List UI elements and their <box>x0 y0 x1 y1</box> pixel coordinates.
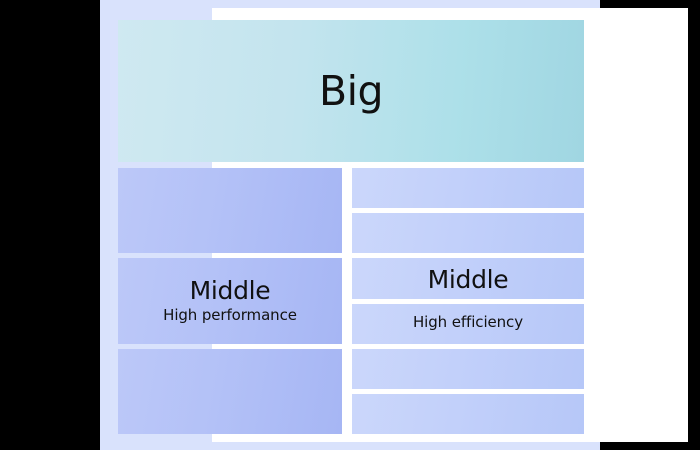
core-block-right-2 <box>352 213 584 253</box>
core-block-left-1 <box>118 168 342 253</box>
middle-cores-region: Middle High performance Middle High effi… <box>118 168 584 434</box>
core-block-right-3: Middle <box>352 258 584 298</box>
big-core-label: Big <box>319 71 383 112</box>
big-core-block: Big <box>118 20 584 162</box>
middle-core-subtitle-left: High performance <box>163 308 297 324</box>
middle-core-column-high-efficiency: Middle High efficiency <box>352 168 584 434</box>
core-block-right-4: High efficiency <box>352 304 584 344</box>
middle-core-title-right: Middle <box>428 267 509 293</box>
core-block-right-5 <box>352 349 584 389</box>
middle-core-title-left: Middle <box>190 278 271 304</box>
core-block-left-3 <box>118 349 342 434</box>
core-block-left-2: Middle High performance <box>118 258 342 343</box>
letterbox-left-bar <box>0 0 100 450</box>
middle-core-subtitle-right: High efficiency <box>413 315 523 331</box>
core-block-right-1 <box>352 168 584 208</box>
diagram-stage: Big Middle High performance Middle High … <box>0 0 700 450</box>
core-block-right-6 <box>352 394 584 434</box>
middle-core-column-high-performance: Middle High performance <box>118 168 342 434</box>
